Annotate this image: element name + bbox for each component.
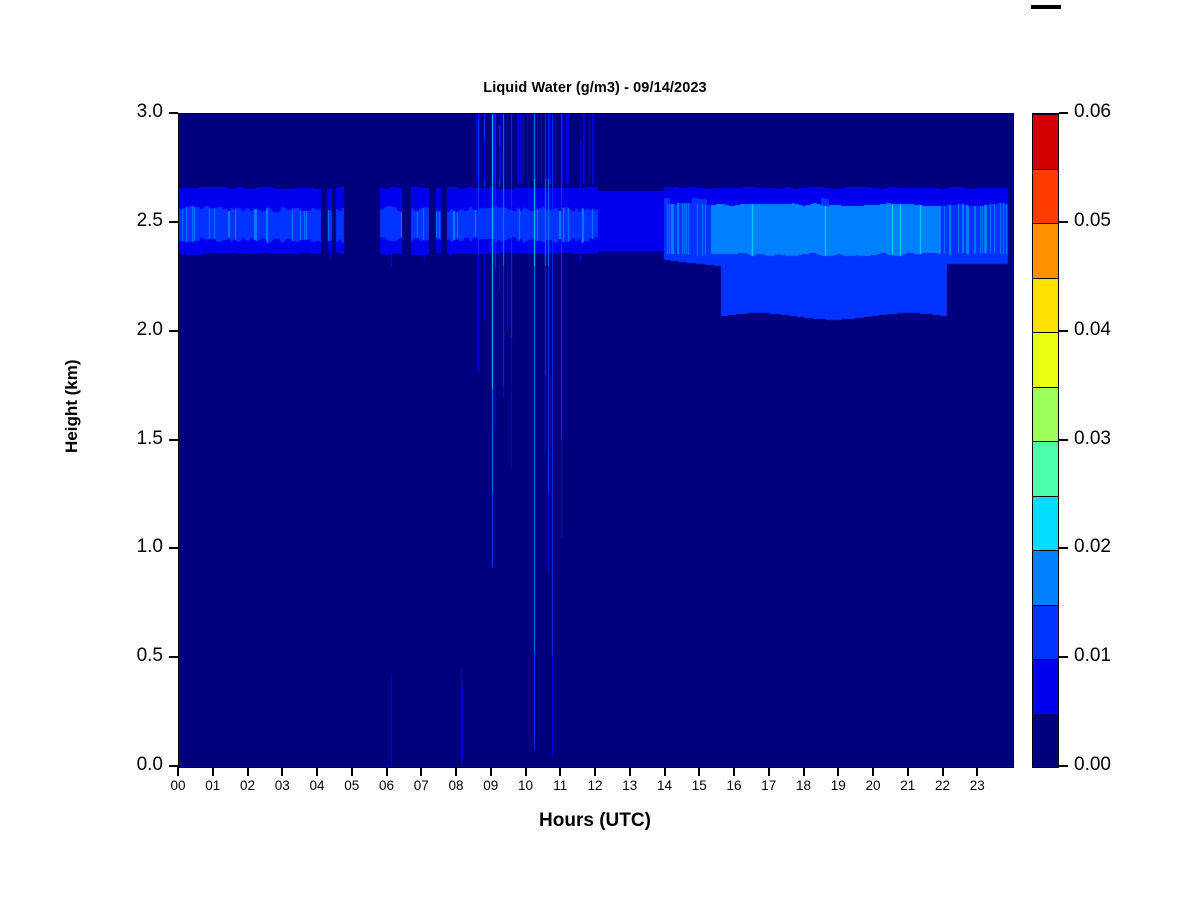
crop-artifact-mark <box>1031 5 1061 9</box>
x-tick-mark <box>212 767 214 776</box>
colorbar-tick-label: 0.06 <box>1074 101 1111 123</box>
y-tick-label: 2.0 <box>137 319 163 341</box>
colorbar-band-10 <box>1033 169 1058 224</box>
x-tick-mark <box>664 767 666 776</box>
x-tick-mark <box>837 767 839 776</box>
y-axis: Height (km) 0.00.51.01.52.02.53.0 <box>0 113 178 767</box>
y-tick-label: 0.5 <box>137 645 163 667</box>
y-tick-mark <box>169 547 178 549</box>
x-tick-label: 21 <box>894 778 922 793</box>
y-tick-label: 1.5 <box>137 428 163 450</box>
y-tick-label: 2.5 <box>137 210 163 232</box>
x-axis-title: Hours (UTC) <box>178 810 1012 832</box>
colorbar-band-4 <box>1033 496 1058 551</box>
colorbar-tick-label: 0.04 <box>1074 319 1111 341</box>
colorbar-band-11 <box>1033 114 1058 169</box>
x-tick-mark <box>559 767 561 776</box>
x-tick-mark <box>768 767 770 776</box>
colorbar-band-0 <box>1033 714 1058 768</box>
colorbar-band-7 <box>1033 332 1058 387</box>
liquid-water-heatmap-canvas <box>179 114 1013 767</box>
x-tick-mark <box>455 767 457 776</box>
x-tick-mark <box>316 767 318 776</box>
y-tick-mark <box>169 330 178 332</box>
colorbar-tick-mark <box>1059 547 1068 549</box>
x-tick-label: 18 <box>790 778 818 793</box>
x-tick-mark <box>942 767 944 776</box>
page-title: Liquid Water (g/m3) - 09/14/2023 <box>178 80 1012 96</box>
x-tick-label: 03 <box>268 778 296 793</box>
x-tick-mark <box>281 767 283 776</box>
x-tick-label: 01 <box>199 778 227 793</box>
x-tick-label: 07 <box>407 778 435 793</box>
x-tick-mark <box>247 767 249 776</box>
x-tick-mark <box>490 767 492 776</box>
liquid-water-time-height-figure: Liquid Water (g/m3) - 09/14/2023 Height … <box>0 0 1200 900</box>
x-tick-label: 12 <box>581 778 609 793</box>
colorbar-tick-label: 0.02 <box>1074 536 1111 558</box>
x-tick-label: 23 <box>963 778 991 793</box>
colorbar-ticks: 0.000.010.020.030.040.050.06 <box>1059 113 1189 767</box>
x-tick-mark <box>733 767 735 776</box>
y-tick-label: 3.0 <box>137 101 163 123</box>
x-tick-mark <box>698 767 700 776</box>
y-tick-label: 1.0 <box>137 536 163 558</box>
colorbar-band-5 <box>1033 441 1058 496</box>
x-tick-label: 17 <box>755 778 783 793</box>
x-tick-label: 09 <box>477 778 505 793</box>
colorbar-band-2 <box>1033 605 1058 660</box>
x-tick-label: 22 <box>929 778 957 793</box>
x-tick-mark <box>525 767 527 776</box>
colorbar-tick-label: 0.00 <box>1074 754 1111 776</box>
x-tick-label: 11 <box>546 778 574 793</box>
x-tick-mark <box>594 767 596 776</box>
colorbar-band-9 <box>1033 223 1058 278</box>
colorbar-band-3 <box>1033 550 1058 605</box>
x-tick-mark <box>803 767 805 776</box>
colorbar-tick-mark <box>1059 221 1068 223</box>
y-tick-label: 0.0 <box>137 754 163 776</box>
x-axis: 0001020304050607080910111213141516171819… <box>178 767 1014 807</box>
x-tick-label: 20 <box>859 778 887 793</box>
x-tick-mark <box>351 767 353 776</box>
x-tick-label: 19 <box>824 778 852 793</box>
x-tick-label: 14 <box>651 778 679 793</box>
colorbar-band-6 <box>1033 387 1058 442</box>
x-tick-label: 13 <box>616 778 644 793</box>
x-tick-label: 05 <box>338 778 366 793</box>
colorbar-band-8 <box>1033 278 1058 333</box>
x-tick-label: 06 <box>373 778 401 793</box>
colorbar-tick-mark <box>1059 439 1068 441</box>
x-tick-label: 02 <box>234 778 262 793</box>
colorbar-tick-mark <box>1059 330 1068 332</box>
x-tick-mark <box>629 767 631 776</box>
x-tick-label: 10 <box>512 778 540 793</box>
x-tick-label: 16 <box>720 778 748 793</box>
x-tick-mark <box>177 767 179 776</box>
y-tick-mark <box>169 439 178 441</box>
y-tick-mark <box>169 221 178 223</box>
x-tick-mark <box>976 767 978 776</box>
x-tick-mark <box>907 767 909 776</box>
colorbar-tick-mark <box>1059 765 1068 767</box>
y-axis-title: Height (km) <box>62 360 82 454</box>
colorbar <box>1032 113 1059 768</box>
x-tick-mark <box>420 767 422 776</box>
x-tick-mark <box>386 767 388 776</box>
colorbar-tick-mark <box>1059 112 1068 114</box>
colorbar-tick-label: 0.01 <box>1074 645 1111 667</box>
x-tick-label: 00 <box>164 778 192 793</box>
x-tick-label: 08 <box>442 778 470 793</box>
colorbar-tick-label: 0.03 <box>1074 428 1111 450</box>
colorbar-tick-mark <box>1059 656 1068 658</box>
x-tick-mark <box>872 767 874 776</box>
x-tick-label: 04 <box>303 778 331 793</box>
y-tick-mark <box>169 656 178 658</box>
y-tick-mark <box>169 112 178 114</box>
colorbar-band-1 <box>1033 659 1058 714</box>
x-tick-label: 15 <box>685 778 713 793</box>
colorbar-tick-label: 0.05 <box>1074 210 1111 232</box>
heatmap-plot-area <box>178 113 1014 768</box>
